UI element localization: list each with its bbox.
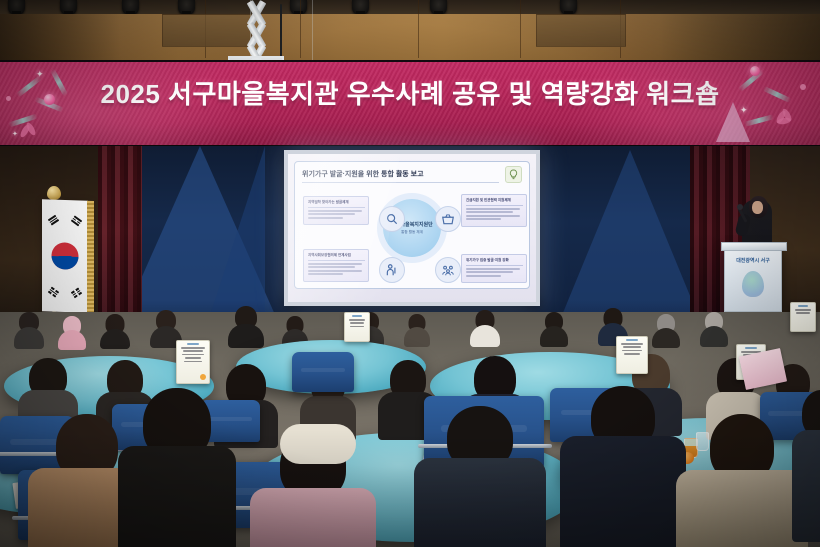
decoration <box>466 271 513 273</box>
taeguk-symbol <box>52 242 79 270</box>
trigram-gon <box>71 288 82 299</box>
ceiling-spotlight <box>178 0 195 15</box>
attendee <box>560 386 686 547</box>
scissor-arm <box>236 0 276 62</box>
ceiling-spotlight <box>560 0 577 15</box>
attendee-body <box>676 470 808 547</box>
table-placard <box>176 340 210 384</box>
microphone-head <box>737 204 743 210</box>
attendee-body <box>560 436 686 547</box>
memo-bottom-left: 지역사회보장협의체 연계사업 <box>303 249 369 282</box>
decoration <box>308 210 362 212</box>
decoration <box>308 273 343 275</box>
decoration <box>308 217 343 219</box>
wall-seam <box>520 0 521 58</box>
attendee <box>118 388 236 547</box>
flag-fringe <box>87 201 94 313</box>
basket-icon <box>435 206 461 232</box>
projector-cable <box>280 4 282 60</box>
attendee-body <box>414 458 546 547</box>
flag-finial <box>47 186 61 200</box>
memo-bottom-right: 위기가구 집중 발굴·지원 강화 <box>461 254 527 283</box>
slide-title: 위기가구 발굴·지원을 위한 통합 활동 보고 <box>302 168 499 181</box>
decoration <box>352 315 361 317</box>
presentation-slide: 위기가구 발굴·지원을 위한 통합 활동 보고 서구마을복지지원단 통합 활동 … <box>294 161 530 289</box>
audience-front-row <box>0 380 820 547</box>
decoration <box>466 211 513 213</box>
decoration <box>185 357 202 359</box>
trigram-gam <box>71 215 82 226</box>
decoration <box>622 350 642 352</box>
decoration <box>187 343 200 345</box>
magnifier-icon <box>379 206 405 232</box>
podium-label: 대전광역시 서구 <box>725 257 781 264</box>
decoration <box>798 305 807 307</box>
podium-emblem <box>742 271 764 297</box>
lightbulb-icon <box>505 166 522 183</box>
decoration <box>795 309 811 311</box>
ceiling-spotlight <box>290 0 307 15</box>
attendee <box>792 390 820 540</box>
speaker-head <box>749 196 768 218</box>
decoration <box>745 347 756 349</box>
trigram-geon <box>48 215 59 226</box>
decoration <box>466 215 520 217</box>
decoration <box>466 275 501 277</box>
korean-national-flag <box>42 199 88 313</box>
projection-screen: 위기가구 발굴·지원을 위한 통합 활동 보고 서구마을복지지원단 통합 활동 … <box>284 150 540 306</box>
wall-seam <box>300 0 301 58</box>
memo-top-left: 지역밀착 찾아가는 발굴체계 <box>303 196 369 225</box>
hub-subtitle: 통합 활동 체계 <box>401 230 423 235</box>
screen-surface: 위기가구 발굴·지원을 위한 통합 활동 보고 서구마을복지지원단 통합 활동 … <box>288 154 536 302</box>
decoration <box>466 218 501 220</box>
decoration <box>466 208 520 210</box>
wall-seam <box>418 0 419 58</box>
attendee-body <box>792 430 820 542</box>
backdrop-geometry <box>560 150 700 320</box>
decoration <box>349 319 365 321</box>
ceiling-spotlight <box>430 0 447 15</box>
decoration <box>621 343 643 345</box>
led-banner: ✦ ✦ 2025 서구마을복지관 우수사례 공유 및 역량강화 워크숍 일시 2… <box>0 60 820 148</box>
community-group-icon <box>435 257 461 283</box>
decoration <box>308 270 362 272</box>
decoration <box>308 266 355 268</box>
decoration <box>796 312 809 314</box>
decoration <box>626 339 638 341</box>
table-placard <box>790 302 816 332</box>
podium-top <box>721 242 787 251</box>
decoration <box>308 213 355 215</box>
decoration <box>182 354 204 356</box>
decoration <box>181 347 205 349</box>
trigram-ri <box>48 287 59 298</box>
ceiling-spotlight <box>60 0 77 15</box>
decoration <box>350 322 363 324</box>
wall-panel <box>536 14 626 47</box>
memo-heading: 지역사회보장협의체 연계사업 <box>308 253 365 261</box>
decoration <box>184 361 202 363</box>
decoration <box>183 350 203 352</box>
attendee-body <box>250 488 376 547</box>
banner-title: 2025 서구마을복지관 우수사례 공유 및 역량강화 워크숍 <box>0 74 820 111</box>
attendee <box>676 414 808 547</box>
memo-top-right: 긴급지원 및 민관협력 지원체계 <box>461 194 527 227</box>
decoration <box>623 346 641 348</box>
memo-heading: 지역밀착 찾아가는 발굴체계 <box>308 200 365 208</box>
attendee-body <box>118 446 236 547</box>
attendee-body <box>280 424 356 464</box>
decoration <box>466 268 520 270</box>
memo-heading: 위기가구 집중 발굴·지원 강화 <box>466 258 523 266</box>
conference-photo: ✦ ✦ 2025 서구마을복지관 우수사례 공유 및 역량강화 워크숍 일시 2… <box>0 0 820 547</box>
ceiling-spotlight <box>8 0 25 15</box>
slide-title-bar: 위기가구 발굴·지원을 위한 통합 활동 보고 <box>302 168 499 183</box>
memo-heading: 긴급지원 및 민관협력 지원체계 <box>466 198 523 206</box>
table-placard <box>616 336 648 374</box>
decoration <box>624 353 639 355</box>
attendee <box>414 406 546 547</box>
decoration <box>308 263 362 265</box>
ceiling-spotlight <box>122 0 139 15</box>
decoration <box>350 326 365 328</box>
person-support-icon <box>379 257 405 283</box>
speaker-face <box>752 201 763 214</box>
table-placard <box>344 312 370 342</box>
ceiling-spotlight <box>352 0 369 15</box>
attendee-arm <box>280 424 356 464</box>
